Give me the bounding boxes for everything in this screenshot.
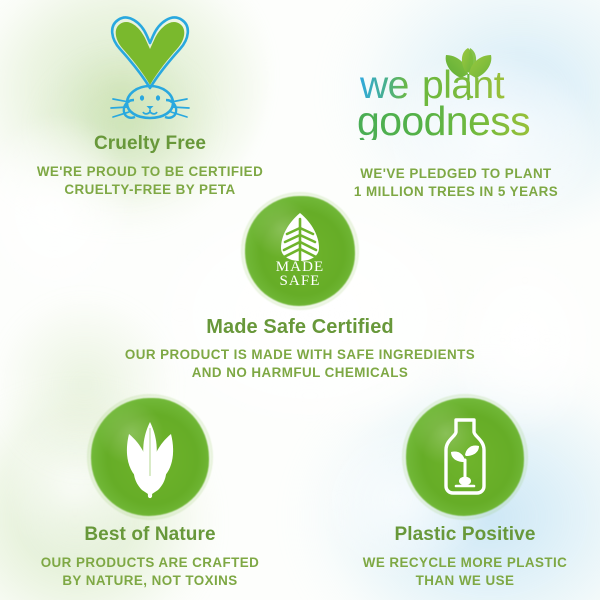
- made-safe-leaf-icon: [245, 196, 355, 306]
- plastic-positive-subtext-line-1: WE RECYCLE MORE PLASTIC: [340, 554, 590, 572]
- section-plastic-positive: Plastic Positive WE RECYCLE MORE PLASTIC…: [340, 398, 590, 589]
- best-of-nature-subtext-line-1: OUR PRODUCTS ARE CRAFTED: [21, 554, 279, 572]
- we-plant-goodness-sprout-logo: we plant goodness we plant goodness: [356, 48, 556, 145]
- peta-bunny-heart-logo: [91, 14, 209, 126]
- section-cruelty-free: Cruelty Free WE'RE PROUD TO BE CERTIFIED…: [26, 14, 274, 198]
- plastic-positive-subtext-line-2: THAN WE USE: [340, 572, 590, 590]
- best-of-nature-heading: Best of Nature: [21, 525, 279, 546]
- bottle-with-sprout-badge: [406, 398, 524, 516]
- section-best-of-nature: Best of Nature OUR PRODUCTS ARE CRAFTED …: [21, 398, 279, 589]
- we-plant-goodness-subtext-line-1: WE'VE PLEDGED TO PLANT: [332, 165, 580, 183]
- cruelty-free-heading: Cruelty Free: [26, 134, 274, 155]
- three-leaves-icon: [91, 398, 209, 516]
- made-safe-seal-label: MADE SAFE: [245, 260, 355, 289]
- plastic-positive-heading: Plastic Positive: [340, 525, 590, 546]
- sustainability-claims-poster: Cruelty Free WE'RE PROUD TO BE CERTIFIED…: [0, 0, 600, 600]
- made-safe-seal-label-line-1: MADE: [245, 260, 355, 275]
- cruelty-free-subtext-line-1: WE'RE PROUD TO BE CERTIFIED: [26, 163, 274, 181]
- best-of-nature-subtext-line-2: BY NATURE, NOT TOXINS: [21, 572, 279, 590]
- section-made-safe: MADE SAFE Made Safe Certified OUR PRODUC…: [50, 196, 550, 381]
- three-leaves-badge: [91, 398, 209, 516]
- made-safe-subtext-line-1: OUR PRODUCT IS MADE WITH SAFE INGREDIENT…: [50, 346, 550, 364]
- svg-text:goodness: goodness: [357, 98, 530, 140]
- made-safe-subtext-line-2: AND NO HARMFUL CHEMICALS: [50, 364, 550, 382]
- made-safe-leaf-seal: MADE SAFE: [245, 196, 355, 306]
- made-safe-seal-label-line-2: SAFE: [245, 274, 355, 289]
- section-we-plant-goodness: we plant goodness we plant goodness WE'V…: [332, 48, 580, 200]
- made-safe-heading: Made Safe Certified: [50, 316, 550, 338]
- bottle-sprout-icon: [406, 398, 524, 516]
